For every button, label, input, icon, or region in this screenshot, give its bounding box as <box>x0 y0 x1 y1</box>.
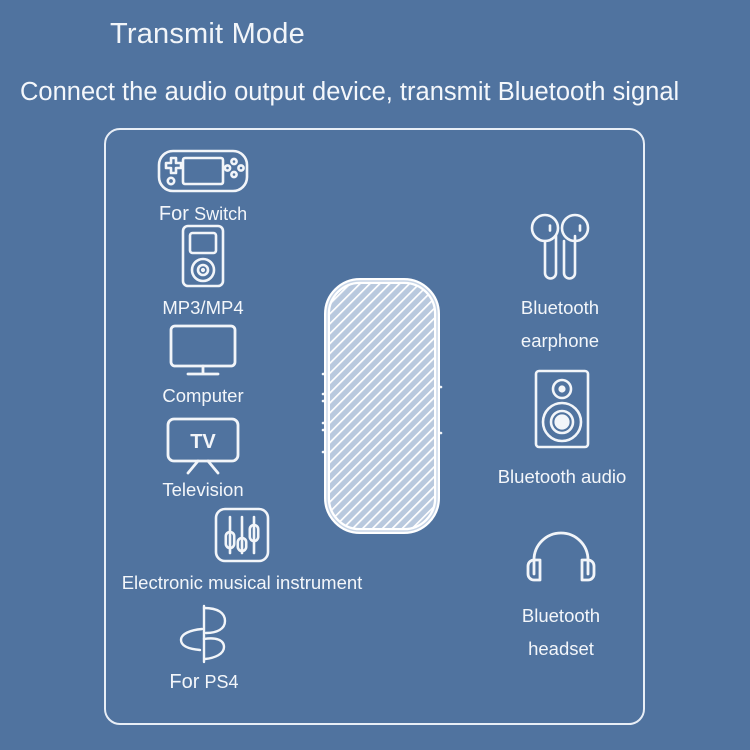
receiver-label-headset-line2: headset <box>522 633 600 666</box>
game-console-icon <box>155 147 251 195</box>
headphones-icon <box>525 530 597 588</box>
transmit-mode-diagram: Transmit Mode Connect the audio output d… <box>0 0 750 750</box>
bluetooth-transmitter-device <box>318 275 446 537</box>
receiver-label-audio: Bluetooth audio <box>498 466 627 488</box>
label-main: PS4 <box>205 672 239 692</box>
source-item-switch: For Switch <box>148 147 258 226</box>
equalizer-icon <box>213 506 271 564</box>
receiver-label-headset: Bluetooth headset <box>522 600 600 666</box>
label-prefix: For <box>159 203 189 225</box>
source-label-television: Television <box>162 479 243 501</box>
source-label-instrument: Electronic musical instrument <box>122 572 363 594</box>
receiver-label-earphone: Bluetooth earphone <box>521 292 599 358</box>
source-label-ps4: For PS4 <box>169 671 238 694</box>
earbuds-icon <box>528 212 592 284</box>
playstation-icon <box>171 603 237 665</box>
source-item-ps4: For PS4 <box>158 603 250 694</box>
mp3-player-icon <box>180 223 226 289</box>
page-subtitle: Connect the audio output device, transmi… <box>20 78 679 107</box>
television-icon: TV <box>165 416 241 474</box>
computer-monitor-icon <box>168 323 238 379</box>
source-item-mp3: MP3/MP4 <box>163 223 243 319</box>
source-item-television: TV Television <box>155 416 251 501</box>
receiver-item-earphone: Bluetooth earphone <box>506 212 614 358</box>
page-title: Transmit Mode <box>110 18 305 51</box>
receiver-label-headset-line1: Bluetooth <box>522 600 600 633</box>
source-item-computer: Computer <box>158 323 248 407</box>
receiver-label-earphone-line1: Bluetooth <box>521 292 599 325</box>
source-label-mp3: MP3/MP4 <box>162 297 243 319</box>
receiver-item-headset: Bluetooth headset <box>507 530 615 666</box>
source-label-computer: Computer <box>162 385 243 407</box>
tv-screen-text: TV <box>190 431 216 453</box>
device-body <box>327 281 437 531</box>
label-prefix: For <box>169 671 199 693</box>
speaker-icon <box>533 368 591 450</box>
receiver-label-earphone-line2: earphone <box>521 325 599 358</box>
receiver-item-audio: Bluetooth audio <box>494 368 630 488</box>
label-main: Switch <box>194 204 247 224</box>
